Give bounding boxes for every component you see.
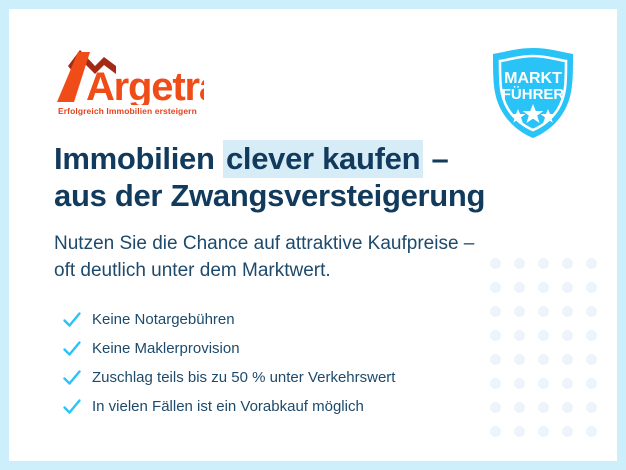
dot bbox=[538, 330, 549, 341]
dot bbox=[586, 402, 597, 413]
dot bbox=[514, 282, 525, 293]
dot bbox=[538, 354, 549, 365]
svg-text:Argetra: Argetra bbox=[86, 65, 204, 105]
list-item: Keine Notargebühren bbox=[61, 305, 395, 334]
dot bbox=[538, 282, 549, 293]
headline-line1-after: – bbox=[423, 141, 448, 176]
marktfuehrer-badge: MARKT FÜHRER bbox=[485, 45, 581, 141]
headline-highlight: clever kaufen bbox=[223, 140, 423, 178]
dot bbox=[538, 258, 549, 269]
list-item-label: Keine Maklerprovision bbox=[92, 340, 240, 357]
dot bbox=[562, 306, 573, 317]
subheadline: Nutzen Sie die Chance auf attraktive Kau… bbox=[54, 231, 474, 285]
headline-line1: Immobilien clever kaufen – bbox=[54, 140, 449, 178]
list-item-label: In vielen Fällen ist ein Vorabkauf mögli… bbox=[92, 398, 364, 415]
dot bbox=[490, 258, 501, 269]
dot bbox=[562, 378, 573, 389]
logo-tagline: Erfolgreich Immobilien ersteigern bbox=[58, 106, 204, 116]
list-item: In vielen Fällen ist ein Vorabkauf mögli… bbox=[61, 392, 395, 421]
dot bbox=[490, 426, 501, 437]
check-icon bbox=[61, 338, 83, 360]
dot bbox=[514, 378, 525, 389]
dot bbox=[586, 258, 597, 269]
dot bbox=[490, 378, 501, 389]
dot bbox=[562, 330, 573, 341]
dot-grid-decoration bbox=[483, 251, 603, 443]
check-icon bbox=[61, 367, 83, 389]
dot bbox=[490, 282, 501, 293]
dot bbox=[562, 354, 573, 365]
subheadline-line1: Nutzen Sie die Chance auf attraktive Kau… bbox=[54, 233, 474, 254]
dot bbox=[562, 402, 573, 413]
dot bbox=[586, 378, 597, 389]
list-item: Zuschlag teils bis zu 50 % unter Verkehr… bbox=[61, 363, 395, 392]
badge-line1: MARKT bbox=[504, 70, 562, 87]
dot bbox=[490, 306, 501, 317]
dot bbox=[514, 258, 525, 269]
dot bbox=[586, 354, 597, 365]
subheadline-line2: oft deutlich unter dem Marktwert. bbox=[54, 260, 331, 281]
badge-line2: FÜHRER bbox=[502, 86, 565, 103]
dot bbox=[514, 354, 525, 365]
dot bbox=[562, 258, 573, 269]
argetra-logo-mark: Argetra bbox=[54, 47, 204, 105]
dot bbox=[490, 402, 501, 413]
dot bbox=[562, 282, 573, 293]
list-item: Keine Maklerprovision bbox=[61, 334, 395, 363]
banner-canvas: Argetra Erfolgreich Immobilien ersteiger… bbox=[9, 9, 617, 461]
dot bbox=[514, 330, 525, 341]
headline: Immobilien clever kaufen – aus der Zwang… bbox=[54, 140, 485, 214]
dot bbox=[586, 426, 597, 437]
headline-line1-before: Immobilien bbox=[54, 141, 223, 176]
dot bbox=[586, 330, 597, 341]
dot bbox=[490, 354, 501, 365]
dot bbox=[514, 402, 525, 413]
dot bbox=[538, 306, 549, 317]
check-icon bbox=[61, 309, 83, 331]
benefits-checklist: Keine Notargebühren Keine Maklerprovisio… bbox=[61, 305, 395, 421]
list-item-label: Keine Notargebühren bbox=[92, 311, 235, 328]
check-icon bbox=[61, 396, 83, 418]
dot bbox=[562, 426, 573, 437]
promo-banner: Argetra Erfolgreich Immobilien ersteiger… bbox=[0, 0, 626, 470]
dot bbox=[538, 402, 549, 413]
headline-line2: aus der Zwangsversteigerung bbox=[54, 178, 485, 213]
dot bbox=[538, 426, 549, 437]
dot bbox=[586, 306, 597, 317]
dot bbox=[538, 378, 549, 389]
argetra-logo[interactable]: Argetra Erfolgreich Immobilien ersteiger… bbox=[54, 47, 204, 116]
dot bbox=[514, 306, 525, 317]
dot bbox=[490, 330, 501, 341]
dot bbox=[514, 426, 525, 437]
dot bbox=[586, 282, 597, 293]
list-item-label: Zuschlag teils bis zu 50 % unter Verkehr… bbox=[92, 369, 395, 386]
